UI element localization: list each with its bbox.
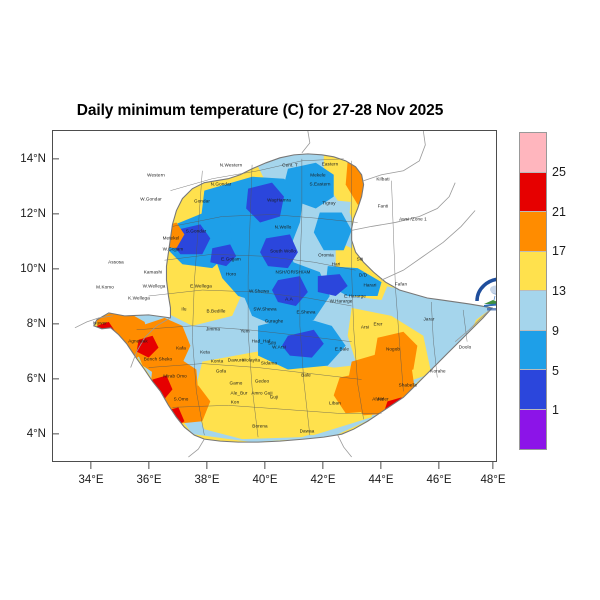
y-axis-tick-mark — [52, 213, 59, 214]
colorbar-tick-label: 13 — [552, 284, 566, 298]
y-axis-tick-label: 12°N — [20, 208, 46, 220]
colorbar-band — [520, 252, 546, 292]
y-axis-tick-mark — [52, 158, 59, 159]
y-axis-tick-mark — [52, 378, 59, 379]
y-axis-tick-mark — [52, 433, 59, 434]
colorbar-tick-label: 5 — [552, 364, 559, 378]
x-axis-tick-label: 40°E — [252, 474, 277, 486]
ethiopia-temperature-map — [53, 131, 496, 461]
x-axis-tick-mark — [322, 462, 323, 469]
x-axis-tick-label: 48°E — [480, 474, 505, 486]
colorbar-band — [520, 370, 546, 410]
y-axis-tick-mark — [52, 268, 59, 269]
y-axis-tick-label: 10°N — [20, 263, 46, 275]
x-axis-tick-mark — [148, 462, 149, 469]
colorbar-band — [520, 331, 546, 371]
temperature-field — [53, 131, 496, 461]
colorbar-tick-labels: 25211713951 — [552, 132, 592, 450]
y-axis-labels: 14°N12°N10°N8°N6°N4°N — [0, 0, 46, 600]
y-axis-tick-label: 4°N — [27, 428, 46, 440]
colorbar-tick-label: 25 — [552, 165, 566, 179]
x-axis-tick-label: 44°E — [368, 474, 393, 486]
figure: Daily minimum temperature (C) for 27-28 … — [0, 0, 600, 600]
colorbar-band — [520, 410, 546, 450]
x-axis-tick-label: 46°E — [426, 474, 451, 486]
chart-title: Daily minimum temperature (C) for 27-28 … — [0, 102, 520, 120]
ethiopian-meteorology-institute-logo — [472, 276, 497, 312]
x-axis-tick-mark — [492, 462, 493, 469]
map-plot-area[interactable]: WesternN.WesternCent. TEasternMekeleS.Ea… — [52, 130, 497, 462]
x-axis-tick-label: 42°E — [310, 474, 335, 486]
x-axis-tick-label: 38°E — [194, 474, 219, 486]
x-axis-labels: 34°E36°E38°E40°E42°E44°E46°E48°E — [0, 474, 600, 494]
x-axis-tick-mark — [264, 462, 265, 469]
x-axis-tick-mark — [90, 462, 91, 469]
x-axis-tick-label: 36°E — [136, 474, 161, 486]
y-axis-tick-label: 14°N — [20, 153, 46, 165]
x-axis-tick-mark — [380, 462, 381, 469]
x-axis-tick-label: 34°E — [78, 474, 103, 486]
colorbar-band — [520, 133, 546, 173]
colorbar-band — [520, 173, 546, 213]
x-axis-tick-mark — [438, 462, 439, 469]
y-axis-tick-label: 8°N — [27, 318, 46, 330]
colorbar-tick-label: 17 — [552, 244, 566, 258]
y-axis-tick-label: 6°N — [27, 373, 46, 385]
colorbar-band — [520, 212, 546, 252]
y-axis-tick-mark — [52, 323, 59, 324]
colorbar-tick-label: 9 — [552, 324, 559, 338]
colorbar-band — [520, 291, 546, 331]
colorbar[interactable] — [519, 132, 547, 450]
colorbar-tick-label: 21 — [552, 205, 566, 219]
x-axis-tick-mark — [206, 462, 207, 469]
colorbar-tick-label: 1 — [552, 403, 559, 417]
